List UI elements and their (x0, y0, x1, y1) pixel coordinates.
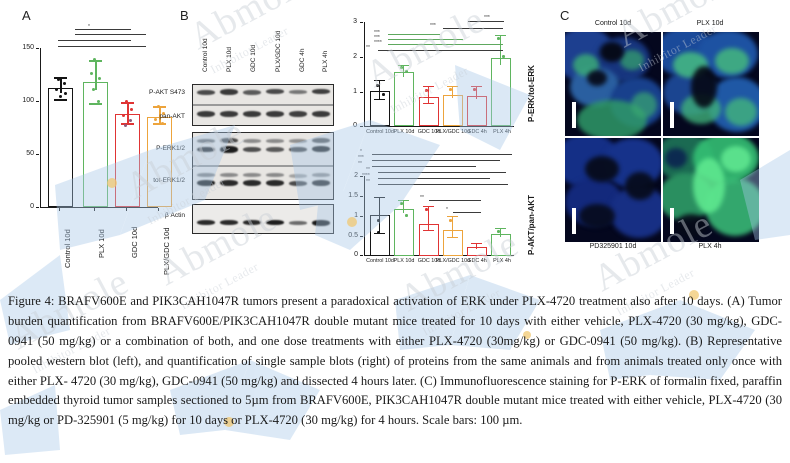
b-lower-ytick-15: 1.5 (338, 192, 358, 199)
tick (36, 154, 39, 155)
errorbar-cap (54, 77, 67, 79)
sig-star: ** (420, 195, 424, 201)
b-lower-xlabel-plx4h: PLX 4h (488, 258, 516, 264)
figure-caption: Figure 4: BRAFV600E and PIK3CAH1047R tum… (8, 292, 782, 431)
tick (360, 22, 363, 23)
data-point (377, 219, 380, 222)
panel-a-ytick-50: 50 (14, 150, 34, 157)
sig-bracket (378, 172, 506, 173)
blot-row-toterk: tot-ERK1/2 (125, 177, 185, 184)
tick (360, 255, 363, 256)
data-point (425, 208, 428, 211)
b-lower-yaxis (364, 176, 365, 256)
data-point (57, 78, 60, 81)
sig-star: * (88, 24, 90, 30)
scale-bar (670, 208, 674, 234)
tick (360, 92, 363, 93)
data-point (55, 88, 58, 91)
errorbar-cap (423, 86, 434, 87)
errorbar-cap (447, 216, 458, 217)
sig-bracket (75, 34, 146, 35)
tick (360, 57, 363, 58)
sig-star: ** (366, 45, 370, 51)
if-label-pd325901: PD325901 10d (568, 243, 658, 250)
data-point (157, 105, 160, 108)
sig-bracket (58, 46, 146, 47)
b-upper-ytick-3: 3 (344, 18, 357, 25)
panel-a-xlabel-plx: PLX 10d (97, 229, 106, 258)
if-image-pd325901 (565, 138, 661, 242)
sig-star: *** (484, 15, 490, 21)
errorbar (452, 86, 453, 98)
b-upper-yaxis-title: P-ERK/tot-ERK (527, 65, 536, 122)
errorbar-cap (374, 80, 385, 81)
panel-a-xlabel-plxgdc: PLX/GDC 10d (162, 227, 171, 275)
b-lower-bar-plx4h (491, 234, 511, 256)
tick (360, 236, 363, 237)
errorbar-cap (89, 103, 102, 105)
if-image-control (565, 32, 661, 136)
sig-star: ** (358, 161, 362, 167)
tick (126, 208, 127, 211)
sig-star: * (446, 207, 448, 213)
data-point (125, 100, 128, 103)
b-upper-bar-plxgdc (443, 95, 463, 126)
tick (360, 126, 363, 127)
blot-block-actin (192, 204, 334, 234)
errorbar-cap (153, 123, 166, 125)
panel-a-yaxis (40, 48, 41, 208)
errorbar-cap (447, 237, 458, 238)
sig-bracket (372, 160, 500, 161)
data-point (502, 55, 505, 58)
sig-bracket (372, 166, 476, 167)
sig-star: ** (366, 179, 370, 185)
data-point (130, 108, 133, 111)
sig-bracket (468, 21, 504, 22)
data-point (473, 88, 476, 91)
errorbar-cap (423, 103, 434, 104)
panel-a-xlabel-gdc: GDC 10d (130, 227, 139, 258)
scale-bar (572, 208, 576, 234)
sig-bracket (378, 50, 503, 51)
blot-row-perk: P-ERK1/2 (125, 145, 185, 152)
data-point (425, 89, 428, 92)
data-point (382, 93, 385, 96)
data-point (497, 230, 500, 233)
tick (59, 208, 60, 211)
if-image-plx10d (663, 32, 759, 136)
blot-block-akt (192, 84, 334, 126)
data-point (376, 84, 379, 87)
sig-bracket (388, 44, 503, 45)
panel-a-bar-control (48, 88, 73, 207)
b-upper-ytick-1: 1 (344, 88, 357, 95)
tick (36, 48, 39, 49)
b-upper-ytick-0: 0 (344, 122, 357, 129)
panel-a-ytick-150: 150 (14, 44, 34, 51)
data-point (63, 82, 66, 85)
panel-a-xaxis (40, 207, 158, 208)
data-point (449, 219, 452, 222)
tick (36, 101, 39, 102)
blot-row-pakt: P-AKT S473 (125, 89, 185, 96)
sig-bracket (429, 200, 481, 201)
data-point (97, 100, 100, 103)
data-point (377, 231, 380, 234)
if-image-plx4h (663, 138, 759, 242)
errorbar-cap (54, 99, 67, 101)
blot-lane-control: Control 10d (202, 38, 209, 72)
errorbar (95, 60, 97, 90)
panel-a-bar-plx (83, 82, 108, 207)
data-point (124, 124, 127, 127)
errorbar (60, 77, 62, 93)
blot-row-panakt: pan-AKT (125, 113, 185, 120)
b-upper-ytick-2: 2 (344, 53, 357, 60)
errorbar-cap (374, 197, 385, 198)
sig-bracket (443, 28, 503, 29)
sig-bracket (388, 34, 440, 35)
scale-bar (572, 102, 576, 128)
errorbar (476, 86, 477, 99)
data-point (405, 70, 408, 73)
sig-bracket (388, 39, 463, 40)
sig-bracket (58, 40, 131, 41)
panel-a-ytick-100: 100 (14, 97, 34, 104)
b-upper-bar-plx4h (491, 58, 511, 126)
tick (360, 196, 363, 197)
data-point (98, 77, 101, 80)
b-lower-ytick-20: 2 (338, 172, 358, 179)
blot-block-erk (192, 132, 334, 200)
b-upper-yaxis (364, 22, 365, 127)
errorbar-cap (374, 233, 385, 234)
if-label-plx4h: PLX 4h (665, 243, 755, 250)
data-point (92, 88, 95, 91)
b-lower-bar-plx (394, 209, 414, 256)
blot-lane-plx: PLX 10d (226, 47, 233, 72)
sig-bracket (453, 212, 481, 213)
b-upper-xaxis (364, 126, 514, 127)
figure-area: A 150 100 50 0 (0, 0, 790, 290)
b-upper-xlabel-plx4h: PLX 4h (488, 129, 516, 135)
data-point (405, 214, 408, 217)
if-label-control: Control 10d (568, 20, 658, 27)
errorbar (379, 80, 380, 100)
errorbar (428, 86, 429, 104)
tick (360, 216, 363, 217)
b-lower-ytick-05: 0.5 (338, 232, 358, 239)
data-point (497, 37, 500, 40)
data-point (400, 66, 403, 69)
errorbar-cap (471, 243, 482, 244)
blot-row-actin: β Actin (125, 212, 185, 219)
sig-star: *** (374, 30, 380, 36)
errorbar-cap (374, 99, 385, 100)
blot-lane-gdc: GDC 10d (250, 45, 257, 72)
errorbar-cap (423, 230, 434, 231)
blot-lane-gdc4h: GDC 4h (299, 49, 306, 72)
b-lower-ytick-00: 0 (338, 251, 358, 258)
sig-star: *** (430, 23, 436, 29)
scale-bar (670, 102, 674, 128)
panel-a-bar-gdc (115, 114, 140, 207)
sig-bracket (378, 178, 490, 179)
sig-bracket (372, 154, 512, 155)
data-point (90, 72, 93, 75)
panel-b-letter: B (180, 8, 189, 23)
b-lower-yaxis-title: P-AKT/pan-AKT (527, 195, 536, 255)
errorbar (428, 206, 429, 231)
panel-a-xlabel-control: Control 10d (63, 229, 72, 268)
b-lower-ytick-10: 1 (338, 212, 358, 219)
b-upper-bar-plx (394, 72, 414, 126)
data-point (449, 88, 452, 91)
errorbar (403, 200, 404, 213)
errorbar (452, 216, 453, 238)
blot-lane-plxgdc: PLX/GDC 10d (275, 31, 282, 72)
panel-a-letter: A (22, 8, 31, 23)
panel-a-ytick-0: 0 (14, 203, 34, 210)
blot-lane-plx4h: PLX 4h (322, 51, 329, 72)
data-point (400, 202, 403, 205)
sig-bracket (378, 184, 508, 185)
errorbar-cap (121, 123, 134, 125)
tick (158, 208, 159, 211)
tick (36, 207, 39, 208)
data-point (93, 58, 96, 61)
tick (94, 208, 95, 211)
sig-bracket (75, 29, 131, 30)
if-label-plx10d: PLX 10d (665, 20, 755, 27)
panel-a-bar-plxgdc (147, 117, 172, 207)
data-point (64, 92, 67, 95)
data-point (59, 95, 62, 98)
data-point (161, 122, 164, 125)
b-upper-bar-gdc4h (467, 96, 487, 126)
errorbar (379, 197, 380, 234)
